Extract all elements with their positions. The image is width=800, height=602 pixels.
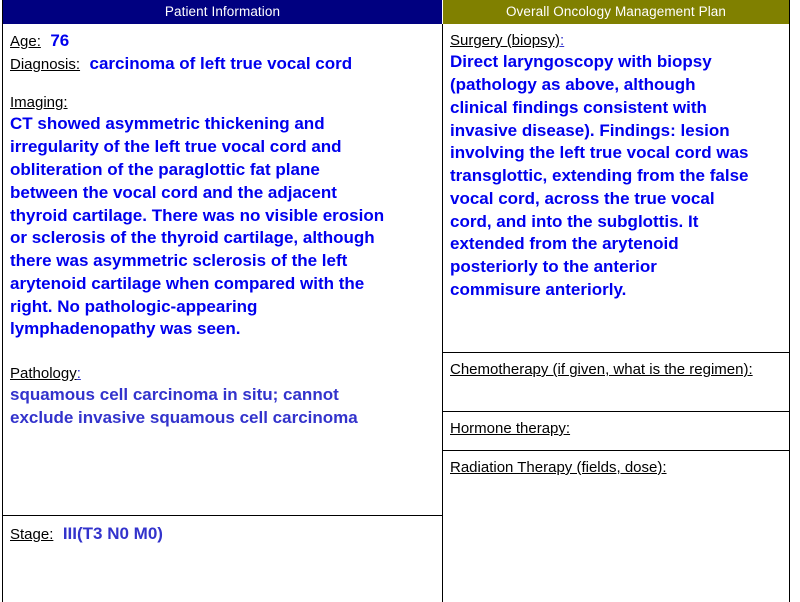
field-chemotherapy-label: Chemotherapy (if given, what is the regi…	[450, 361, 753, 378]
surgery-line: involving the left true vocal cord was	[450, 142, 783, 165]
cell-chemotherapy: Chemotherapy (if given, what is the regi…	[443, 352, 789, 411]
field-pathology-label: Pathology	[10, 365, 77, 382]
field-pathology-colon: :	[77, 365, 81, 382]
surgery-line: commisure anteriorly.	[450, 279, 783, 302]
field-hormone-therapy-label: Hormone therapy:	[450, 420, 570, 437]
column-management-plan: Surgery (biopsy): Direct laryngoscopy wi…	[442, 24, 789, 602]
imaging-line: lymphadenopathy was seen.	[10, 318, 436, 341]
surgery-line: cord, and into the subglottis. It	[450, 211, 783, 234]
imaging-line: thyroid cartilage. There was no visible …	[10, 205, 436, 228]
field-chemotherapy-label-row: Chemotherapy (if given, what is the regi…	[450, 359, 783, 380]
cell-stage: Stage: III(T3 N0 M0)	[3, 515, 442, 602]
spacer	[10, 341, 436, 363]
field-age-label: Age:	[10, 33, 41, 50]
field-imaging-label-row: Imaging:	[10, 92, 436, 113]
field-hormone-therapy-label-row: Hormone therapy:	[450, 418, 783, 439]
cell-radiation-therapy: Radiation Therapy (fields, dose):	[443, 450, 789, 602]
field-surgery-label-row: Surgery (biopsy):	[450, 30, 783, 51]
imaging-line: between the vocal cord and the adjacent	[10, 182, 436, 205]
surgery-line: transglottic, extending from the false	[450, 165, 783, 188]
field-diagnosis: Diagnosis: carcinoma of left true vocal …	[10, 53, 436, 76]
field-radiation-therapy-label: Radiation Therapy (fields, dose):	[450, 459, 667, 476]
field-stage: Stage: III(T3 N0 M0)	[10, 523, 436, 546]
field-diagnosis-label: Diagnosis:	[10, 56, 80, 73]
spacer	[10, 75, 436, 92]
surgery-line: posteriorly to the anterior	[450, 256, 783, 279]
field-stage-label: Stage:	[10, 526, 53, 543]
surgery-line: extended from the arytenoid	[450, 233, 783, 256]
field-surgery-text: Direct laryngoscopy with biopsy (patholo…	[450, 51, 783, 301]
imaging-line: arytenoid cartilage when compared with t…	[10, 273, 436, 296]
imaging-line: or sclerosis of the thyroid cartilage, a…	[10, 227, 436, 250]
cell-surgery: Surgery (biopsy): Direct laryngoscopy wi…	[443, 24, 789, 352]
pathology-line: squamous cell carcinoma in situ; cannot	[10, 384, 436, 407]
oncology-summary-table: Patient Information Overall Oncology Man…	[2, 0, 790, 602]
field-stage-value: III(T3 N0 M0)	[63, 524, 163, 543]
cell-patient-details: Age: 76 Diagnosis: carcinoma of left tru…	[3, 24, 442, 515]
field-radiation-therapy-label-row: Radiation Therapy (fields, dose):	[450, 457, 783, 478]
surgery-line: (pathology as above, although	[450, 74, 783, 97]
imaging-line: there was asymmetric sclerosis of the le…	[10, 250, 436, 273]
imaging-line: CT showed asymmetric thickening and	[10, 113, 436, 136]
field-pathology-label-row: Pathology:	[10, 363, 436, 384]
surgery-line: invasive disease). Findings: lesion	[450, 120, 783, 143]
imaging-line: obliteration of the paraglottic fat plan…	[10, 159, 436, 182]
field-age: Age: 76	[10, 30, 436, 53]
field-imaging-text: CT showed asymmetric thickening and irre…	[10, 113, 436, 341]
field-pathology-text: squamous cell carcinoma in situ; cannot …	[10, 384, 436, 430]
imaging-line: irregularity of the left true vocal cord…	[10, 136, 436, 159]
surgery-line: Direct laryngoscopy with biopsy	[450, 51, 783, 74]
imaging-line: right. No pathologic-appearing	[10, 296, 436, 319]
header-patient-information: Patient Information	[3, 0, 442, 24]
pathology-line: exclude invasive squamous cell carcinoma	[10, 407, 436, 430]
field-surgery-label: Surgery (biopsy)	[450, 32, 560, 49]
table-header-row: Patient Information Overall Oncology Man…	[3, 0, 789, 24]
field-surgery-colon: :	[560, 32, 564, 49]
table-body: Age: 76 Diagnosis: carcinoma of left tru…	[3, 24, 789, 602]
header-oncology-management-plan: Overall Oncology Management Plan	[442, 0, 789, 24]
column-patient-information: Age: 76 Diagnosis: carcinoma of left tru…	[3, 24, 442, 602]
surgery-line: vocal cord, across the true vocal	[450, 188, 783, 211]
surgery-line: clinical findings consistent with	[450, 97, 783, 120]
field-diagnosis-value: carcinoma of left true vocal cord	[90, 54, 353, 73]
field-age-value: 76	[50, 31, 69, 50]
cell-hormone-therapy: Hormone therapy:	[443, 411, 789, 450]
field-imaging-label: Imaging:	[10, 94, 68, 111]
document-page: Patient Information Overall Oncology Man…	[0, 0, 800, 602]
